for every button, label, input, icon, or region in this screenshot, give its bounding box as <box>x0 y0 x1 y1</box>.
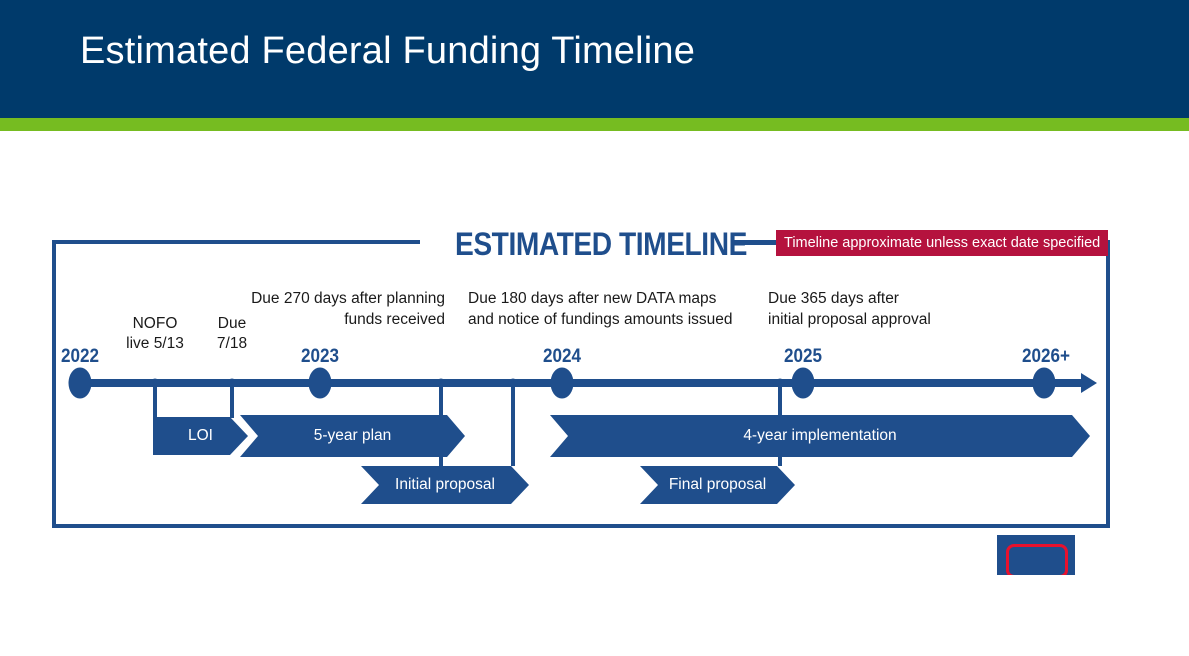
page-title: Estimated Federal Funding Timeline <box>80 30 695 73</box>
annotation-line-2: and notice of fundings amounts issued <box>468 309 733 330</box>
status-badge: Timeline approximate unless exact date s… <box>776 230 1108 256</box>
badge-connector-line <box>731 240 779 245</box>
frame-bottom-border <box>52 524 1110 528</box>
stem-nofo <box>153 383 157 418</box>
node-2024 <box>551 368 574 399</box>
annotation-line-2: initial proposal approval <box>768 309 931 330</box>
annotation-line-1: Due 270 days after planning <box>245 288 445 309</box>
year-label-2024: 2024 <box>543 346 581 368</box>
frame-top-left-segment <box>52 240 420 244</box>
year-label-2022: 2022 <box>61 346 99 368</box>
annotation-planning-funds: Due 270 days after planning funds receiv… <box>245 288 445 330</box>
stem-due <box>230 383 234 418</box>
phase-bar-five-year-plan: 5-year plan <box>240 415 465 457</box>
phase-bar-loi: LOI <box>153 417 248 455</box>
header-accent-rule <box>0 118 1189 131</box>
frame-left-border <box>52 240 56 528</box>
year-label-2023: 2023 <box>301 346 339 368</box>
year-label-2025: 2025 <box>784 346 822 368</box>
marker-caption-line-1: Due <box>199 314 265 334</box>
annotation-line-1: Due 365 days after <box>768 288 931 309</box>
year-label-2026-plus: 2026+ <box>1022 346 1070 368</box>
phase-bar-final-proposal: Final proposal <box>640 466 795 504</box>
timeline-heading: ESTIMATED TIMELINE <box>455 226 747 263</box>
node-180-days <box>509 379 518 388</box>
phase-bar-initial-proposal: Initial proposal <box>361 466 529 504</box>
marker-caption-line-2: 7/18 <box>199 334 265 354</box>
node-2025 <box>792 368 815 399</box>
marker-caption-nofo: NOFO live 5/13 <box>116 314 194 354</box>
marker-caption-line-2: live 5/13 <box>116 334 194 354</box>
node-due <box>228 379 237 388</box>
phase-bar-four-year-implementation: 4-year implementation <box>550 415 1090 457</box>
node-270-days <box>437 379 446 388</box>
annotation-initial-approval: Due 365 days after initial proposal appr… <box>768 288 931 330</box>
annotation-line-1: Due 180 days after new DATA maps <box>468 288 733 309</box>
annotation-data-maps: Due 180 days after new DATA maps and not… <box>468 288 733 330</box>
frame-right-border <box>1106 240 1110 528</box>
marker-caption-line-1: NOFO <box>116 314 194 334</box>
timeline-axis-arrow-icon <box>1081 373 1097 393</box>
node-2022 <box>69 368 92 399</box>
stem-data-maps <box>511 383 515 466</box>
node-2023 <box>309 368 332 399</box>
node-2026-plus <box>1033 368 1056 399</box>
node-nofo <box>151 379 160 388</box>
annotation-line-2: funds received <box>245 309 445 330</box>
clipped-decoration-box <box>997 535 1075 575</box>
node-365-days <box>776 379 785 388</box>
clipped-decoration-outline <box>1006 544 1068 575</box>
marker-caption-due: Due 7/18 <box>199 314 265 354</box>
